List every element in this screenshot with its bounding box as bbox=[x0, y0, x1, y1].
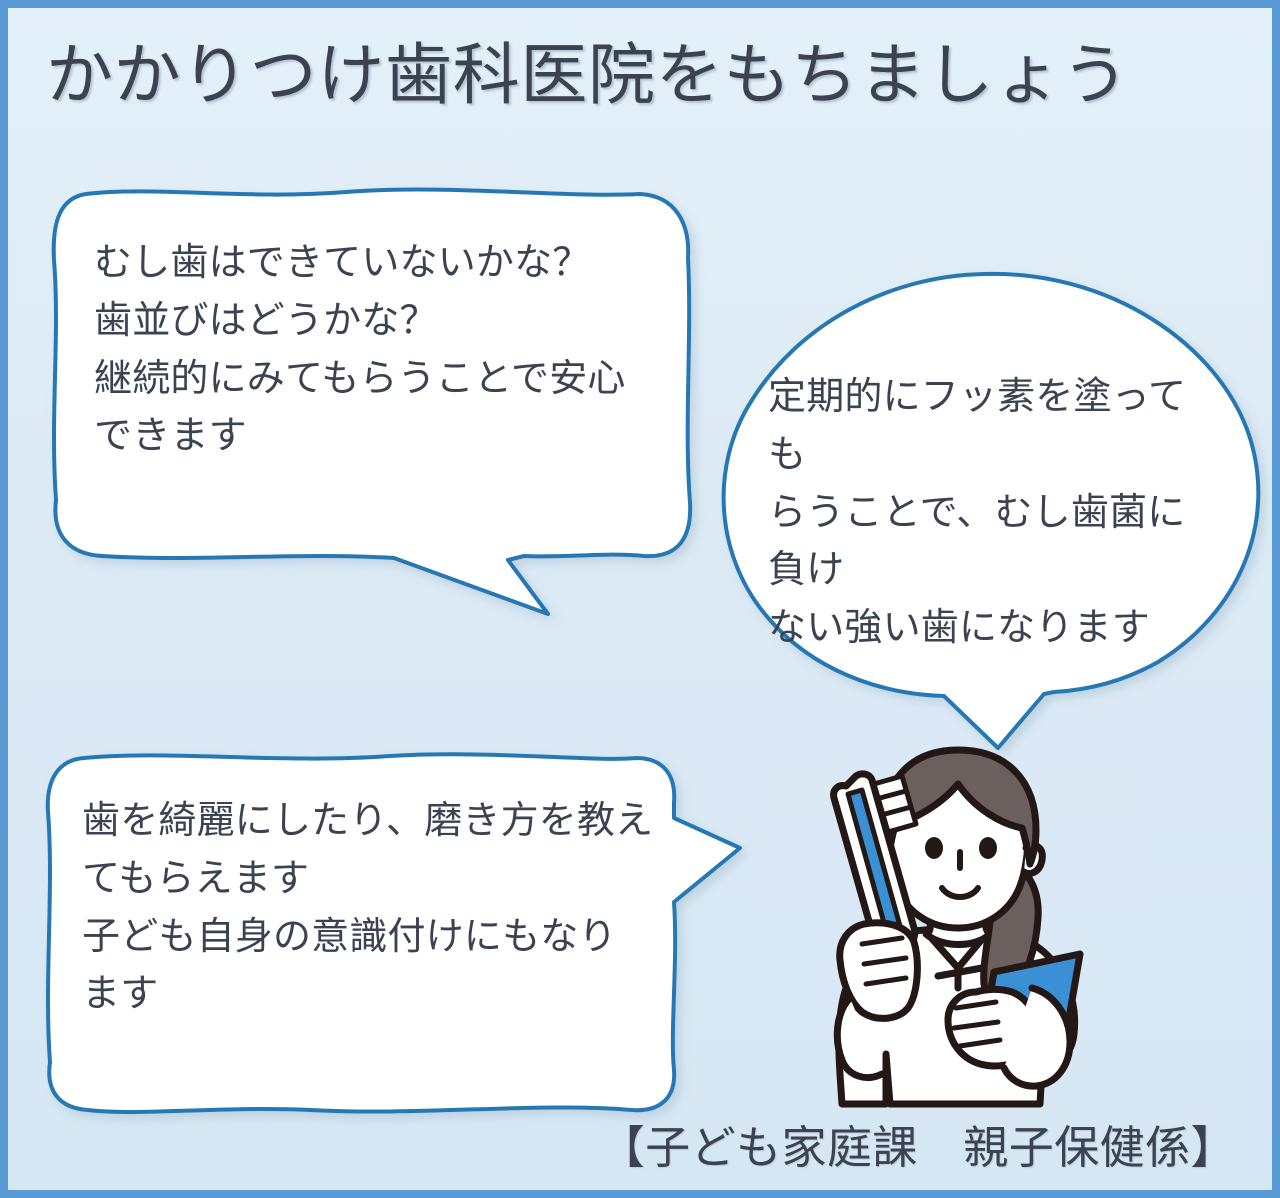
speech-bubble-2-text: 定期的にフッ素を塗っても らうことで、むし歯菌に負け ない強い歯になります bbox=[768, 368, 1208, 657]
speech-bubble-1: むし歯はできていないかな？ 歯並びはどうかな？ 継続的にみてもらうことで安心 で… bbox=[46, 186, 696, 636]
eye-left bbox=[925, 837, 943, 859]
page-title: かかりつけ歯科医院をもちましょう bbox=[46, 42, 1196, 109]
dental-hygienist-illustration bbox=[790, 736, 1122, 1118]
eye-right bbox=[979, 837, 997, 859]
poster-root: かかりつけ歯科医院をもちましょう むし歯はできていないかな？ 歯並びはどうかな？… bbox=[0, 0, 1280, 1198]
speech-bubble-3-text: 歯を綺麗にしたり、磨き方を教え てもらえます 子ども自身の意識付けにもなり ます bbox=[82, 792, 662, 1023]
speech-bubble-2: 定期的にフッ素を塗っても らうことで、むし歯菌に負け ない強い歯になります bbox=[708, 270, 1268, 730]
speech-bubble-3: 歯を綺麗にしたり、磨き方を教え てもらえます 子ども自身の意識付けにもなり ます bbox=[40, 750, 752, 1118]
speech-bubble-1-text: むし歯はできていないかな？ 歯並びはどうかな？ 継続的にみてもらうことで安心 で… bbox=[94, 234, 664, 465]
footer-department: 【子ども家庭課 親子保健係】 bbox=[600, 1123, 1236, 1173]
hygienist-figure bbox=[790, 736, 1122, 1118]
